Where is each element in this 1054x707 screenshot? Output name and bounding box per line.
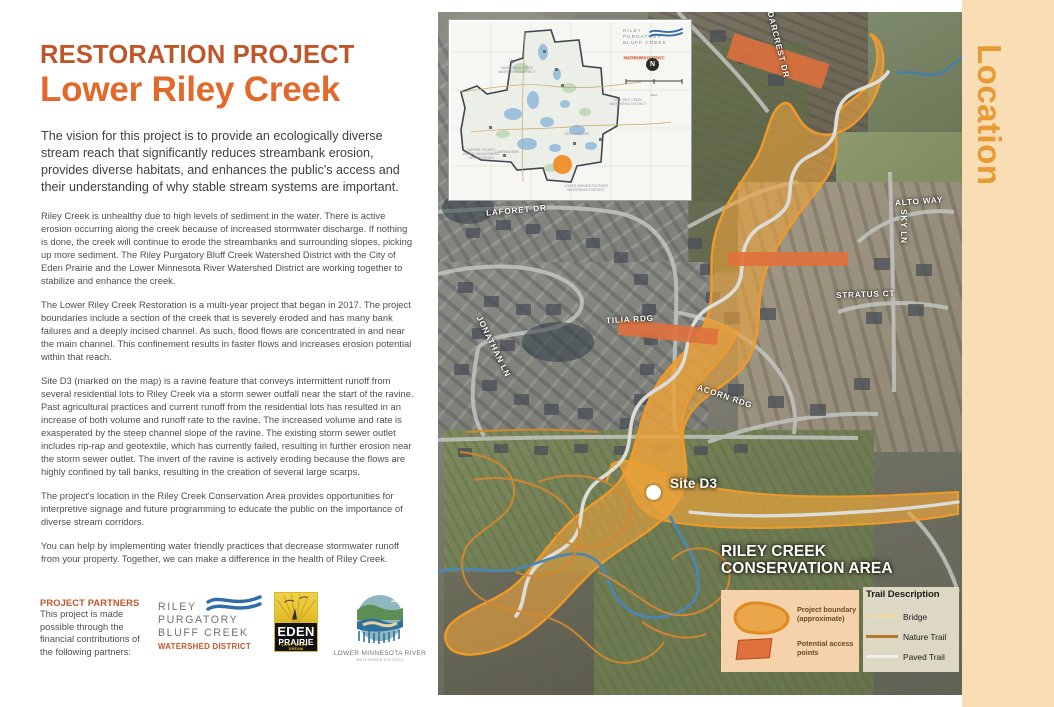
title-block: RESTORATION PROJECT Lower Riley Creek [40, 42, 420, 109]
rpbcwd-line-2: PURGATORY [158, 614, 260, 627]
inset-logo-subtitle: WATERSHED DISTRICT [623, 56, 665, 60]
trail-label-bridge: Bridge [903, 612, 927, 622]
body-copy: The vision for this project is to provid… [41, 128, 416, 576]
body-paragraph-2: The Lower Riley Creek Restoration is a m… [41, 298, 416, 363]
lmr-title: LOWER MINNESOTA RIVER [332, 650, 428, 657]
trail-row-bridge: Bridge [866, 608, 958, 625]
street-label-sky-ln: SKY LN [899, 209, 908, 244]
trail-row-paved: Paved Trail [866, 648, 958, 665]
trail-swatch-paved-trail [866, 655, 898, 657]
eden-subtitle: LIVE · WORK · DREAM [275, 643, 317, 651]
logo-lower-minnesota-river: LOWER MINNESOTA RIVER WATERSHED DISTRICT [332, 592, 428, 662]
legend-potential-access-line2: points [797, 649, 853, 658]
inset-label-eden-prairie: EDEN PRAIRIE [555, 132, 599, 136]
lmr-subtitle: WATERSHED DISTRICT [332, 658, 428, 662]
logo-eden-prairie: EDEN PRAIRIE LIVE · WORK · DREAM [274, 592, 318, 652]
scale-bar-icon [625, 79, 683, 89]
location-sidebar: Location [962, 0, 1054, 707]
left-content-column: RESTORATION PROJECT Lower Riley Creek Th… [0, 0, 440, 707]
inset-logo-line-3: BLUFF CREEK [623, 40, 683, 46]
legend-project-boundary-line2: (approximate) [797, 615, 856, 624]
partner-logos: RILEY PURGATORY BLUFF CREEK WATERSHED DI… [158, 592, 428, 662]
trail-label-nature-trail: Nature Trail [903, 632, 946, 642]
scale-bar-unit: Miles [625, 93, 683, 97]
inset-map-canvas: MINNEHAHA CREEKWATERSHED DISTRICT NINE M… [451, 22, 689, 198]
potential-access-swatch-icon [736, 638, 773, 660]
waves-icon [206, 594, 262, 616]
trail-label-paved-trail: Paved Trail [903, 652, 945, 662]
partners-text: This project is made possible through th… [40, 608, 150, 658]
project-boundary-swatch-icon [728, 598, 794, 638]
page-title: Lower Riley Creek [40, 70, 420, 109]
aerial-map-panel[interactable]: LAFORET DR TILIA RDG JONATHAN LN ACORN R… [438, 12, 962, 695]
inset-label-minnehaha: MINNEHAHA CREEKWATERSHED DISTRICT [489, 66, 545, 74]
project-location-marker [553, 155, 572, 174]
scale-bar: Miles [625, 76, 683, 97]
rpbcwd-subtitle: WATERSHED DISTRICT [158, 642, 260, 651]
conservation-title-line-1: RILEY CREEK [721, 544, 921, 561]
trail-swatch-nature-trail [866, 635, 898, 638]
sunburst-icon [275, 593, 317, 627]
trail-description-title: Trail Description [866, 589, 958, 600]
body-paragraph-1: Riley Creek is unhealthy due to high lev… [41, 209, 416, 287]
site-d3-label: Site D3 [670, 476, 717, 491]
inset-locator-map[interactable]: MINNEHAHA CREEKWATERSHED DISTRICT NINE M… [448, 19, 692, 201]
conservation-title-line-2: CONSERVATION AREA [721, 561, 921, 578]
project-partners-section: PROJECT PARTNERS This project is made po… [40, 598, 440, 658]
logo-riley-purgatory-bluff-creek: RILEY PURGATORY BLUFF CREEK WATERSHED DI… [158, 592, 260, 651]
sidebar-label: Location [970, 44, 1008, 186]
map-legend-box: Project boundary (approximate) Potential… [721, 590, 859, 672]
page-kicker: RESTORATION PROJECT [40, 42, 420, 69]
inset-label-chanhassen: CHANHASSEN [485, 150, 529, 154]
legend-item-project-boundary: Project boundary (approximate) [797, 606, 856, 624]
inset-label-nine-mile: NINE MILE CREEKWATERSHED DISTRICT [599, 98, 657, 106]
river-landscape-icon [349, 594, 411, 648]
north-arrow-icon: N [646, 58, 659, 71]
conservation-area-title: RILEY CREEK CONSERVATION AREA [721, 544, 921, 577]
waves-icon [649, 28, 683, 40]
lead-paragraph: The vision for this project is to provid… [41, 128, 416, 197]
body-paragraph-3: Site D3 (marked on the map) is a ravine … [41, 374, 416, 478]
rpbcwd-line-3: BLUFF CREEK [158, 627, 260, 640]
inset-label-lower-minnesota: LOWER MINNESOTA RIVERWATERSHED DISTRICT [549, 184, 623, 192]
trail-row-nature: Nature Trail [866, 628, 958, 645]
trail-swatch-bridge [866, 615, 898, 617]
body-paragraph-5: You can help by implementing water frien… [41, 539, 416, 565]
lmr-mark [349, 594, 411, 648]
legend-item-potential-access: Potential access points [797, 640, 853, 658]
site-d3-marker-dot[interactable] [646, 485, 661, 500]
access-point-sky-lane [728, 252, 848, 266]
body-paragraph-4: The project's location in the Riley Cree… [41, 489, 416, 528]
